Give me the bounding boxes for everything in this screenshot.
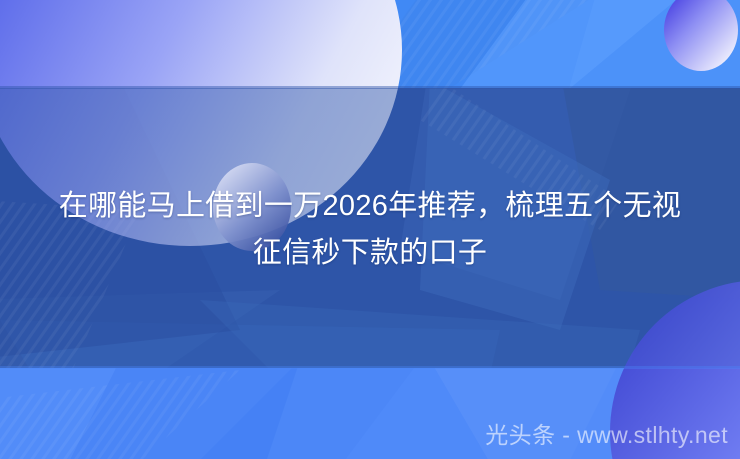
small-center-ellipse xyxy=(213,163,291,251)
background-artwork xyxy=(0,0,740,459)
site-watermark: 光头条 - www.stlhty.net xyxy=(485,416,728,450)
band-seam-bottom xyxy=(0,366,740,369)
cover-image-canvas: 在哪能马上借到一万2026年推荐，梳理五个无视征信秒下款的口子 光头条 - ww… xyxy=(0,0,740,459)
band-seam-top xyxy=(0,86,740,89)
